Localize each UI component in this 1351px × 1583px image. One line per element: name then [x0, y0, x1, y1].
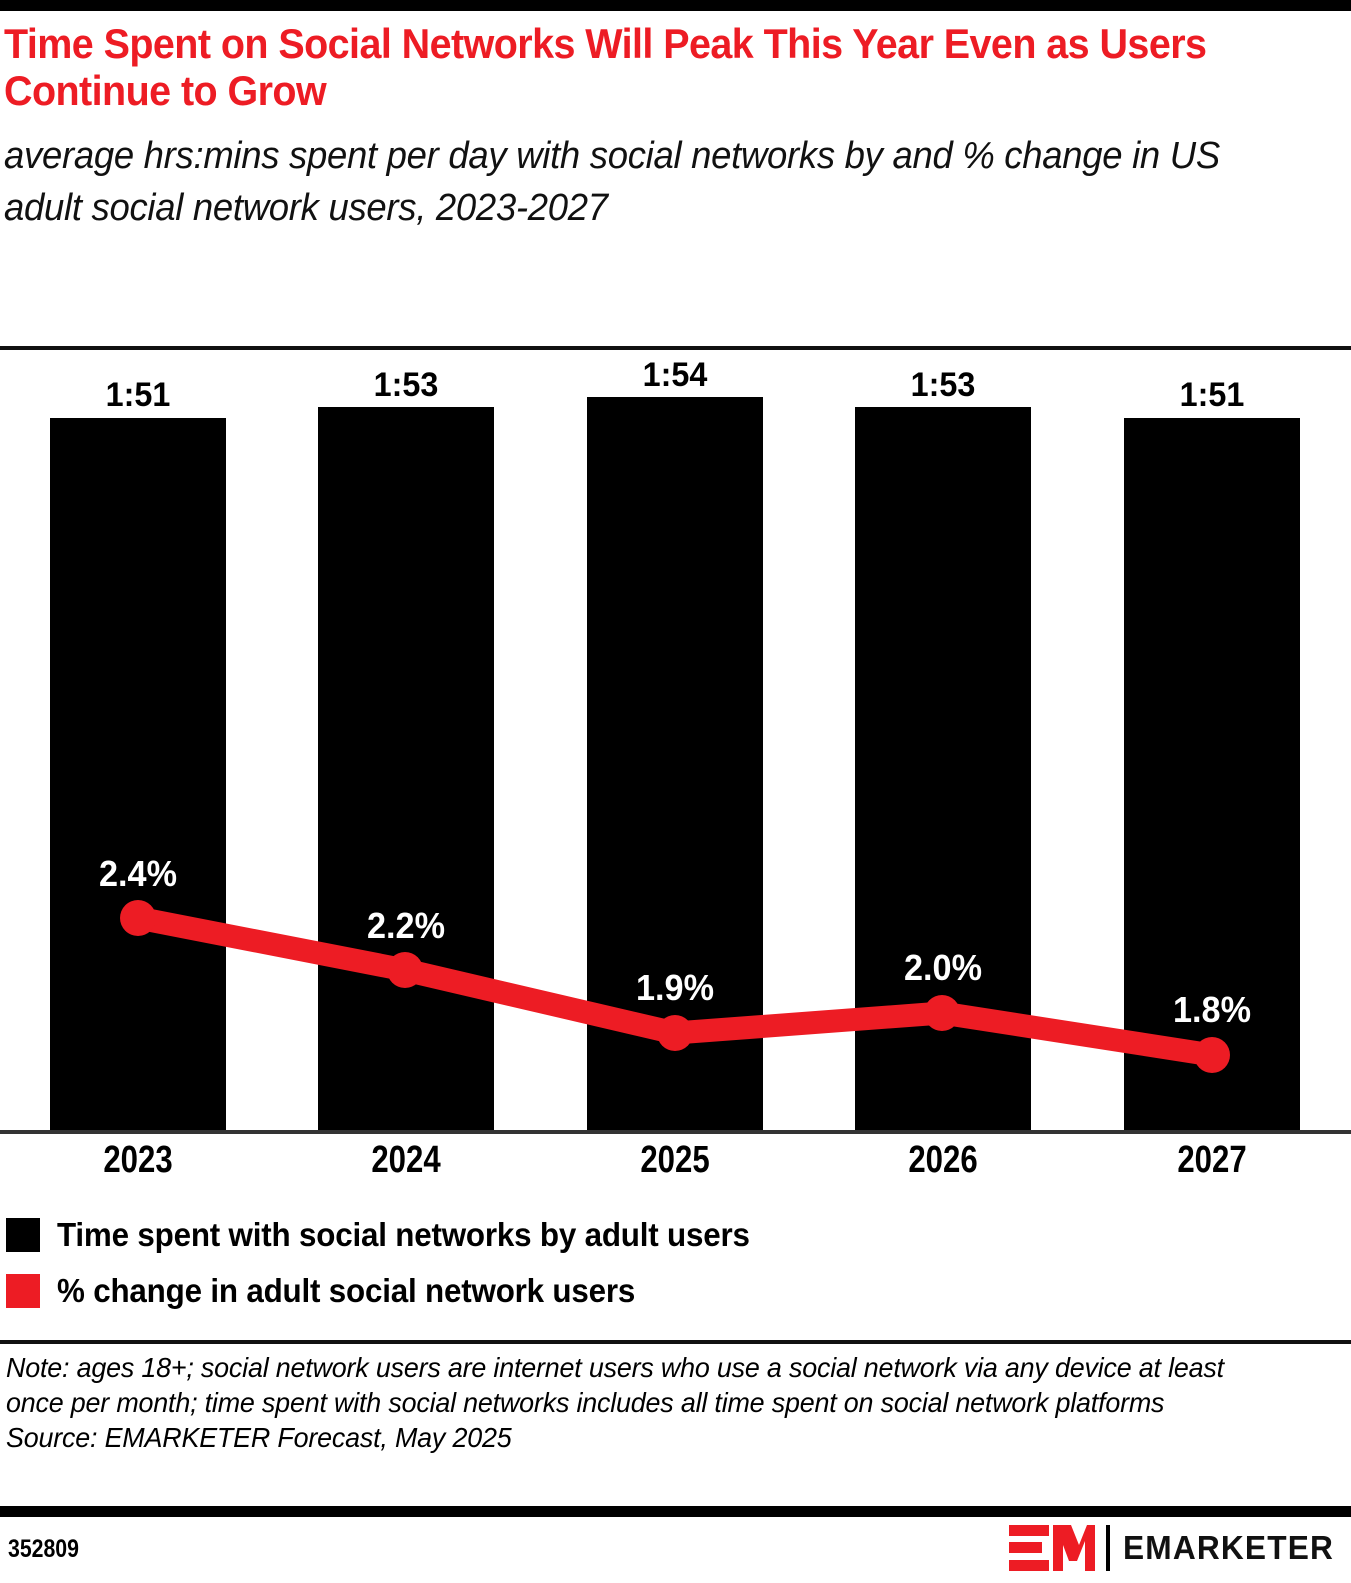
legend-swatch-red-icon	[6, 1274, 40, 1308]
notes-top-divider	[0, 1340, 1351, 1344]
point-value-label-2025: 1.9%	[590, 970, 761, 1006]
x-tick-2024: 2024	[332, 1138, 480, 1182]
brand-lockup: EMARKETER	[1009, 1525, 1343, 1571]
chart-id-number: 352809	[8, 1535, 79, 1563]
x-tick-2026: 2026	[869, 1138, 1017, 1182]
data-point-2026	[924, 995, 960, 1031]
note-text: Note: ages 18+; social network users are…	[6, 1350, 1273, 1420]
footer-top-divider	[0, 1506, 1351, 1517]
chart-legend: Time spent with social networks by adult…	[6, 1207, 1346, 1319]
point-value-label-2026: 2.0%	[858, 950, 1029, 986]
data-point-2027	[1194, 1037, 1230, 1073]
page-subtitle: average hrs:mins spent per day with soci…	[4, 130, 1290, 234]
em-logo-icon	[1009, 1525, 1095, 1571]
brand-name-text: EMARKETER	[1123, 1530, 1334, 1566]
point-value-label-2024: 2.2%	[321, 908, 492, 944]
data-point-2024	[387, 952, 423, 988]
legend-item-percent-change: % change in adult social network users	[6, 1263, 1346, 1319]
data-point-2023	[120, 900, 156, 936]
chart-notes: Note: ages 18+; social network users are…	[6, 1350, 1273, 1455]
top-rule-divider	[0, 0, 1351, 11]
x-axis-line	[0, 1130, 1351, 1134]
chart-page: Time Spent on Social Networks Will Peak …	[0, 0, 1351, 1583]
x-tick-2023: 2023	[64, 1138, 212, 1182]
brand-divider	[1106, 1525, 1110, 1571]
source-text: Source: EMARKETER Forecast, May 2025	[6, 1420, 1273, 1455]
legend-label-time-spent: Time spent with social networks by adult…	[57, 1217, 750, 1253]
chart-header: Time Spent on Social Networks Will Peak …	[4, 20, 1344, 234]
point-value-label-2023: 2.4%	[53, 856, 224, 892]
data-point-2025	[657, 1015, 693, 1051]
page-title: Time Spent on Social Networks Will Peak …	[4, 20, 1264, 114]
chart-footer: 352809 EMARKETER	[0, 1517, 1351, 1583]
chart-plot-area: 1:51 1:53 1:54 1:53 1:51 2.4% 2.2% 1.9% …	[0, 350, 1351, 1132]
x-tick-2027: 2027	[1138, 1138, 1286, 1182]
legend-label-percent-change: % change in adult social network users	[57, 1273, 635, 1309]
legend-item-time-spent: Time spent with social networks by adult…	[6, 1207, 1346, 1263]
x-tick-2025: 2025	[601, 1138, 749, 1182]
point-value-label-2027: 1.8%	[1127, 992, 1298, 1028]
x-axis-tick-labels: 2023 2024 2025 2026 2027	[0, 1138, 1351, 1198]
legend-swatch-black-icon	[6, 1218, 40, 1252]
